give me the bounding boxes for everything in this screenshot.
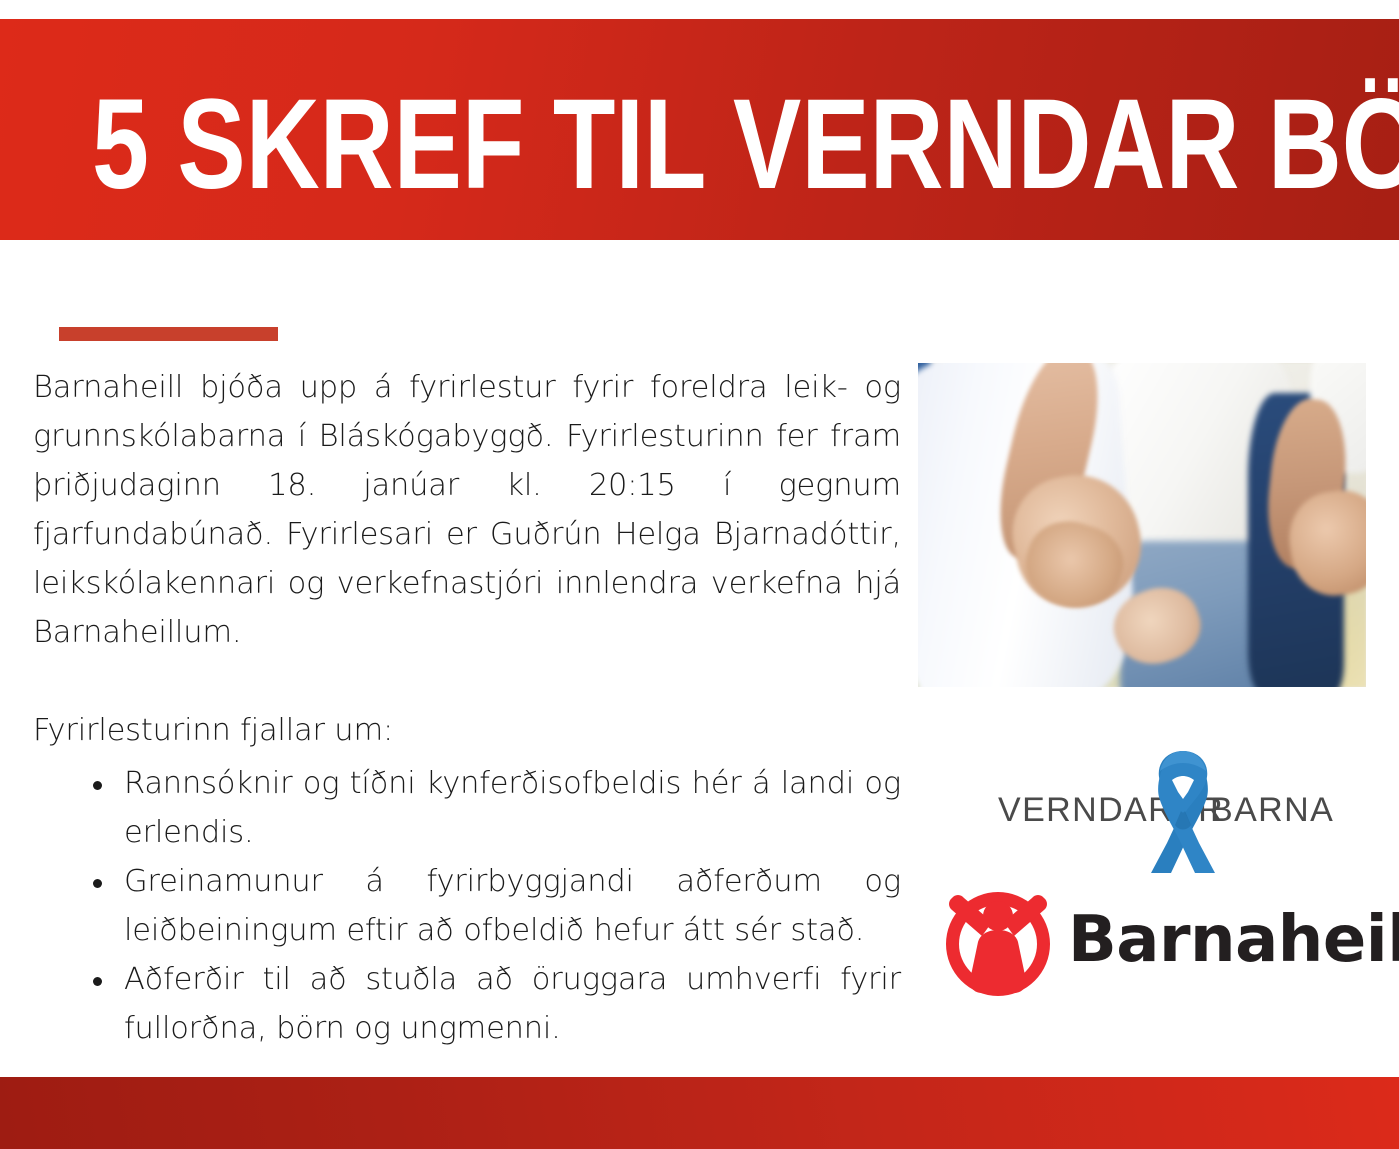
accent-bar — [59, 327, 278, 341]
topic-list: Rannsóknir og tíðni kynferðisofbeldis hé… — [33, 759, 901, 1053]
list-item: Rannsóknir og tíðni kynferðisofbeldis hé… — [91, 759, 901, 857]
header-band: 5 SKREF TIL VERNDAR BÖRNUM — [0, 19, 1399, 240]
page-title: 5 SKREF TIL VERNDAR BÖRNUM — [92, 81, 1399, 209]
list-item: Greinamunur á fyrirbyggjandi aðferðum og… — [91, 857, 901, 955]
list-intro: Fyrirlesturinn fjallar um: — [33, 706, 901, 755]
list-item: Aðferðir til að stuðla að öruggara umhve… — [91, 955, 901, 1053]
content-column: Barnaheill bjóða upp á fyrirlestur fyrir… — [33, 363, 901, 1053]
barna-label: BARNA — [1210, 791, 1334, 830]
barnaheill-logo: Barnaheill — [940, 886, 1360, 1004]
awareness-ribbon-icon — [1141, 747, 1225, 875]
verndarar-barna-logo: VERNDARAR BARNA — [998, 745, 1318, 875]
barnaheill-figure-icon — [940, 886, 1056, 1002]
barnaheill-wordmark: Barnaheill — [1068, 908, 1399, 972]
footer-band — [0, 1077, 1399, 1149]
holding-hands-photo — [918, 363, 1366, 687]
body-paragraph: Barnaheill bjóða upp á fyrirlestur fyrir… — [33, 363, 901, 657]
